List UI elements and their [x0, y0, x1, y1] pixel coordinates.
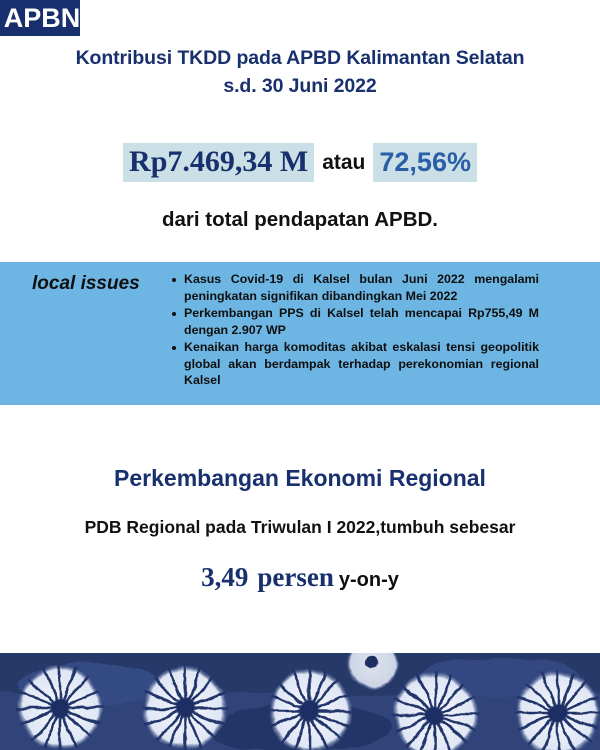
- tkdd-percent-value: 72,56%: [379, 147, 471, 177]
- infographic-page: APBN Kontribusi TKDD pada APBD Kalimanta…: [0, 0, 600, 750]
- figures-conjunction: atau: [314, 151, 373, 175]
- growth-value: 3,49: [201, 562, 248, 592]
- local-issues-list: Kasus Covid-19 di Kalsel bulan Juni 2022…: [171, 271, 539, 390]
- regional-economy-heading: Perkembangan Ekonomi Regional: [0, 465, 600, 492]
- growth-unit: persen: [248, 562, 334, 592]
- batik-shibori-icon: [0, 653, 600, 750]
- apbn-logo-chip: APBN: [0, 0, 80, 36]
- page-title-line-2: s.d. 30 Juni 2022: [0, 72, 600, 100]
- local-issues-band: local issues Kasus Covid-19 di Kalsel bu…: [0, 262, 600, 405]
- regional-economy-subheading: PDB Regional pada Triwulan I 2022,tumbuh…: [0, 517, 600, 538]
- apbn-logo-text: APBN: [4, 5, 81, 32]
- list-item: Kasus Covid-19 di Kalsel bulan Juni 2022…: [171, 271, 539, 304]
- tkdd-percent-highlight: 72,56%: [373, 143, 477, 182]
- growth-suffix: y-on-y: [334, 569, 399, 591]
- list-item: Kenaikan harga komoditas akibat eskalasi…: [171, 339, 539, 389]
- tkdd-amount-highlight: Rp7.469,34 M: [123, 143, 314, 182]
- list-item: Perkembangan PPS di Kalsel telah mencapa…: [171, 305, 539, 338]
- growth-figure-row: 3,49perseny-on-y: [0, 562, 600, 593]
- page-title: Kontribusi TKDD pada APBD Kalimantan Sel…: [0, 44, 600, 100]
- figures-caption: dari total pendapatan APBD.: [0, 208, 600, 232]
- headline-figures: Rp7.469,34 Matau72,56%: [0, 143, 600, 182]
- local-issues-label: local issues: [32, 273, 140, 295]
- page-title-line-1: Kontribusi TKDD pada APBD Kalimantan Sel…: [0, 44, 600, 72]
- batik-footer-pattern: [0, 653, 600, 750]
- tkdd-amount-value: Rp7.469,34 M: [129, 145, 308, 178]
